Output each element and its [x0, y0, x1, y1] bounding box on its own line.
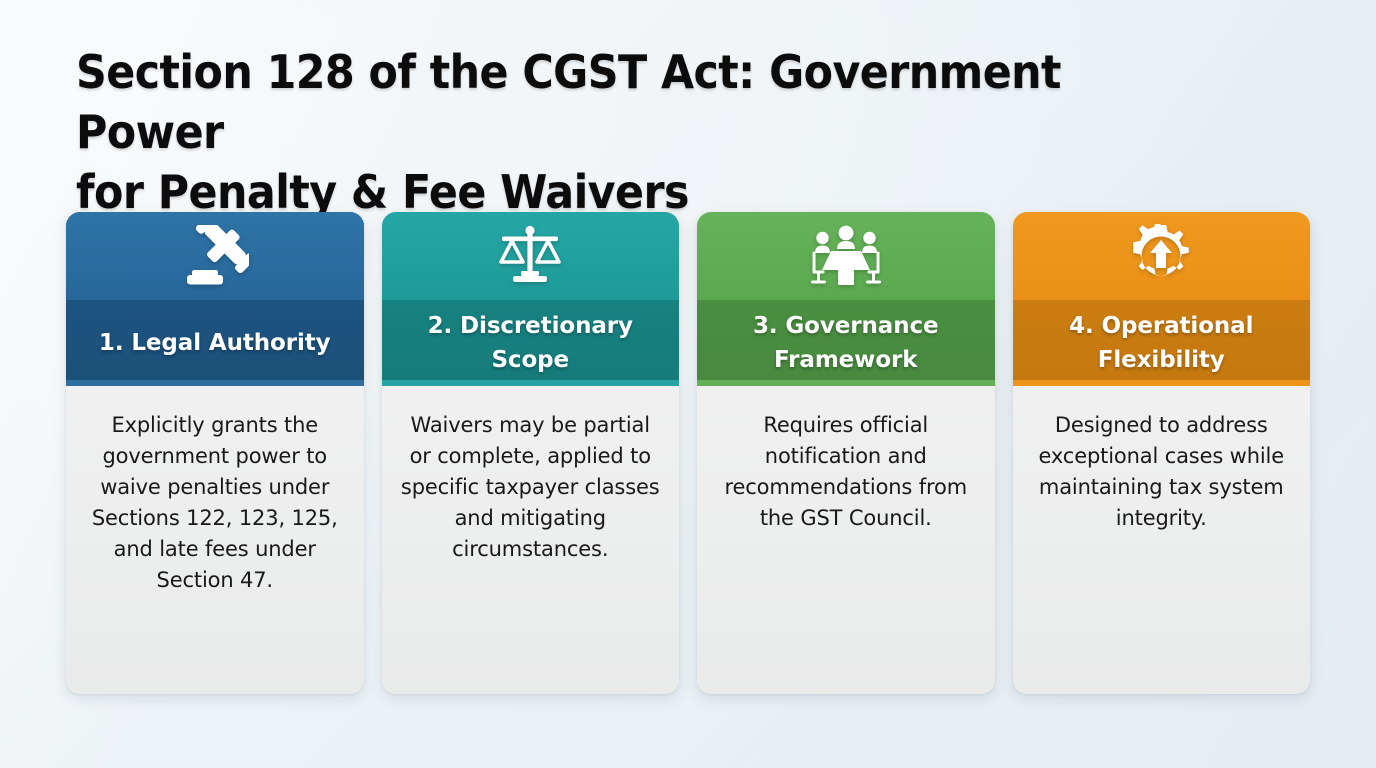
card-title: 1. Legal Authority — [99, 326, 331, 360]
card-header: 3. Governance Framework — [697, 212, 995, 386]
card-description: Explicitly grants the government power t… — [84, 410, 346, 596]
title-band: 4. Operational Flexibility — [1013, 300, 1311, 386]
card-description: Requires official notification and recom… — [715, 410, 977, 534]
card-description: Designed to address exceptional cases wh… — [1031, 410, 1293, 534]
title-band: 2. Discretionary Scope — [382, 300, 680, 386]
card-header: 1. Legal Authority — [66, 212, 364, 386]
card-body: Waivers may be partial or complete, appl… — [382, 386, 680, 694]
slide-canvas: Section 128 of the CGST Act: Government … — [0, 0, 1376, 768]
icon-zone — [697, 212, 995, 300]
title-band: 3. Governance Framework — [697, 300, 995, 386]
header-footer-strip — [697, 380, 995, 386]
card-body: Designed to address exceptional cases wh… — [1013, 386, 1311, 694]
card-operational-flexibility[interactable]: 4. Operational Flexibility Designed to a… — [1013, 212, 1311, 694]
card-title: 4. Operational Flexibility — [1023, 309, 1301, 377]
page-title: Section 128 of the CGST Act: Government … — [76, 42, 1220, 222]
card-legal-authority[interactable]: 1. Legal Authority Explicitly grants the… — [66, 212, 364, 694]
card-row: 1. Legal Authority Explicitly grants the… — [66, 212, 1310, 694]
icon-zone — [66, 212, 364, 300]
header-footer-strip — [66, 380, 364, 386]
card-description: Waivers may be partial or complete, appl… — [400, 410, 662, 565]
card-discretionary-scope[interactable]: 2. Discretionary Scope Waivers may be pa… — [382, 212, 680, 694]
card-header: 4. Operational Flexibility — [1013, 212, 1311, 386]
card-title: 2. Discretionary Scope — [392, 309, 670, 377]
card-body: Explicitly grants the government power t… — [66, 386, 364, 694]
icon-zone — [1013, 212, 1311, 300]
conference-table-icon — [806, 224, 886, 288]
header-footer-strip — [382, 380, 680, 386]
card-body: Requires official notification and recom… — [697, 386, 995, 694]
scales-of-justice-icon — [496, 224, 564, 288]
card-governance-framework[interactable]: 3. Governance Framework Requires officia… — [697, 212, 995, 694]
card-header: 2. Discretionary Scope — [382, 212, 680, 386]
header-footer-strip — [1013, 380, 1311, 386]
card-title: 3. Governance Framework — [707, 309, 985, 377]
title-band: 1. Legal Authority — [66, 300, 364, 386]
icon-zone — [382, 212, 680, 300]
title-block: Section 128 of the CGST Act: Government … — [76, 42, 1306, 222]
gear-arrow-up-icon — [1129, 224, 1193, 288]
gavel-icon — [181, 225, 249, 287]
